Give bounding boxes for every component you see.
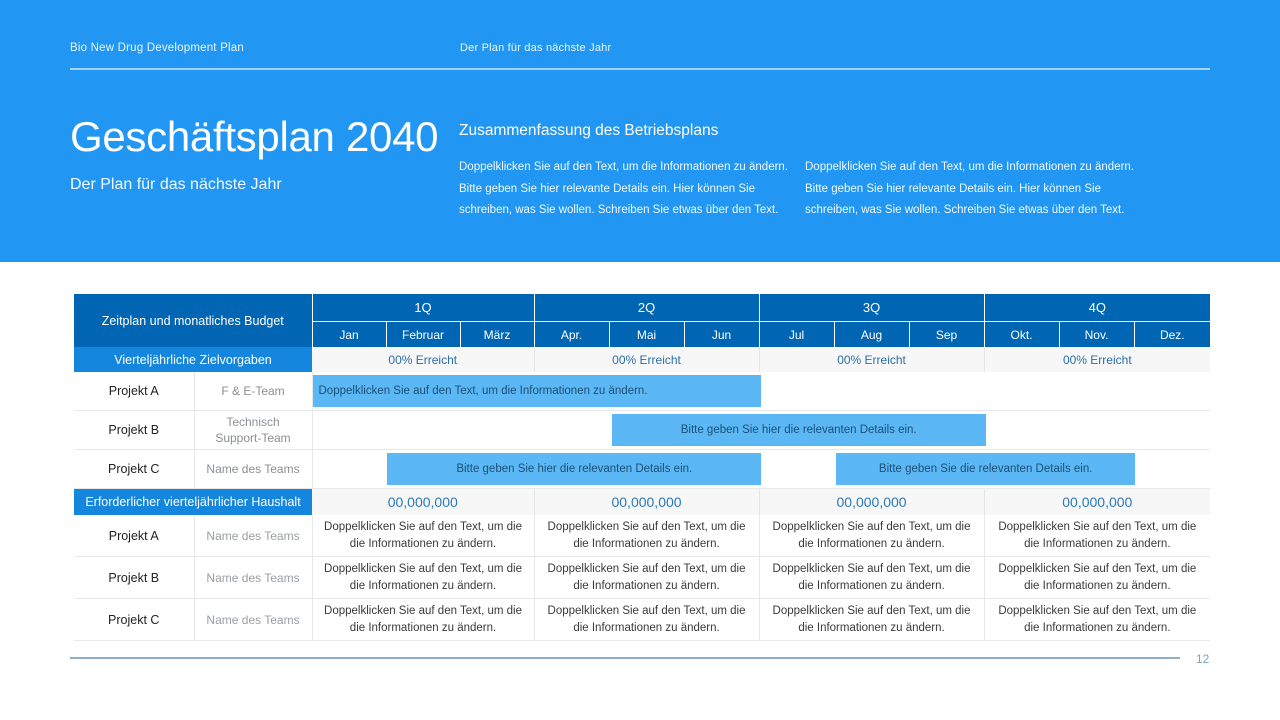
detail-team-name: Name des Teams: [194, 599, 312, 641]
gantt-bar-label: Bitte geben Sie hier die relevanten Deta…: [612, 424, 986, 436]
detail-project-name: Projekt B: [74, 557, 194, 599]
detail-team-name: Name des Teams: [194, 557, 312, 599]
detail-cell[interactable]: Doppelklicken Sie auf den Text, um die d…: [759, 599, 984, 641]
table-header-quarters: Zeitplan und monatliches Budget 1Q 2Q 3Q…: [74, 294, 1210, 322]
schedule-budget-table: Zeitplan und monatliches Budget 1Q 2Q 3Q…: [74, 294, 1210, 641]
hero-banner: Bio New Drug Development Plan Der Plan f…: [0, 0, 1280, 262]
quarter-header-1q: 1Q: [312, 294, 534, 322]
gantt-bar[interactable]: Doppelklicken Sie auf den Text, um die I…: [313, 375, 762, 407]
gantt-project-name: Projekt C: [74, 450, 194, 489]
detail-cell[interactable]: Doppelklicken Sie auf den Text, um die d…: [984, 515, 1210, 557]
gantt-track-projekt-a: Doppelklicken Sie auf den Text, um die I…: [312, 372, 1210, 411]
gantt-bar[interactable]: Bitte geben Sie hier die relevanten Deta…: [612, 414, 986, 446]
summary-column-2: Doppelklicken Sie auf den Text, um die I…: [805, 157, 1145, 222]
month-header-sep: Sep: [909, 322, 984, 348]
quarterly-goal-value-1q: 00% Erreicht: [312, 347, 534, 372]
header-divider: [70, 68, 1210, 70]
gantt-bar-label: Doppelklicken Sie auf den Text, um die I…: [313, 385, 762, 397]
quarterly-goal-value-2q: 00% Erreicht: [534, 347, 759, 372]
quarterly-goal-value-4q: 00% Erreicht: [984, 347, 1210, 372]
month-header-dez: Dez.: [1134, 322, 1210, 348]
gantt-team-name: Technisch Support-Team: [194, 411, 312, 450]
month-header-apr: Apr.: [534, 322, 609, 348]
quarterly-budget-row: Erforderlicher vierteljährlicher Haushal…: [74, 489, 1210, 516]
gantt-team-line: Support-Team: [195, 430, 312, 446]
detail-row-projekt-a: Projekt A Name des Teams Doppelklicken S…: [74, 515, 1210, 557]
quarterly-budget-label: Erforderlicher vierteljährlicher Haushal…: [74, 489, 312, 516]
gantt-track-projekt-c: Bitte geben Sie hier die relevanten Deta…: [312, 450, 1210, 489]
quarter-header-3q: 3Q: [759, 294, 984, 322]
gantt-bar-label: Bitte geben Sie die relevanten Details e…: [836, 463, 1135, 475]
table-corner-title: Zeitplan und monatliches Budget: [74, 294, 312, 347]
month-header-nov: Nov.: [1059, 322, 1134, 348]
quarterly-goals-row: Vierteljährliche Zielvorgaben 00% Erreic…: [74, 347, 1210, 372]
gantt-row-projekt-c: Projekt C Name des Teams Bitte geben Sie…: [74, 450, 1210, 489]
summary-column-1: Doppelklicken Sie auf den Text, um die I…: [459, 157, 799, 222]
detail-row-projekt-c: Projekt C Name des Teams Doppelklicken S…: [74, 599, 1210, 641]
summary-line: Doppelklicken Sie auf den Text, um die I…: [459, 157, 799, 179]
gantt-row-projekt-a: Projekt A F & E-Team Doppelklicken Sie a…: [74, 372, 1210, 411]
detail-cell[interactable]: Doppelklicken Sie auf den Text, um die d…: [759, 557, 984, 599]
header-right-label: Der Plan für das nächste Jahr: [460, 42, 611, 54]
month-header-mai: Mai: [609, 322, 684, 348]
detail-project-name: Projekt C: [74, 599, 194, 641]
detail-cell[interactable]: Doppelklicken Sie auf den Text, um die d…: [312, 557, 534, 599]
detail-cell[interactable]: Doppelklicken Sie auf den Text, um die d…: [534, 515, 759, 557]
quarterly-budget-value-4q: 00,000,000: [984, 489, 1210, 516]
gantt-project-name: Projekt A: [74, 372, 194, 411]
month-header-maerz: März: [460, 322, 534, 348]
quarterly-goals-label: Vierteljährliche Zielvorgaben: [74, 347, 312, 372]
detail-cell[interactable]: Doppelklicken Sie auf den Text, um die d…: [534, 557, 759, 599]
month-header-jul: Jul: [759, 322, 834, 348]
slide-header: Bio New Drug Development Plan Der Plan f…: [70, 42, 1210, 70]
month-header-jun: Jun: [684, 322, 759, 348]
gantt-bar[interactable]: Bitte geben Sie hier die relevanten Deta…: [387, 453, 761, 485]
gantt-team-name: F & E-Team: [194, 372, 312, 411]
detail-cell[interactable]: Doppelklicken Sie auf den Text, um die d…: [312, 515, 534, 557]
section-title: Zusammenfassung des Betriebsplans: [459, 121, 718, 141]
summary-line: Doppelklicken Sie auf den Text, um die I…: [805, 157, 1145, 179]
quarterly-budget-value-2q: 00,000,000: [534, 489, 759, 516]
slide: Bio New Drug Development Plan Der Plan f…: [0, 0, 1280, 720]
gantt-track-projekt-b: Bitte geben Sie hier die relevanten Deta…: [312, 411, 1210, 450]
month-header-jan: Jan: [312, 322, 386, 348]
detail-cell[interactable]: Doppelklicken Sie auf den Text, um die d…: [984, 599, 1210, 641]
detail-cell[interactable]: Doppelklicken Sie auf den Text, um die d…: [312, 599, 534, 641]
footer-divider: [70, 657, 1180, 659]
quarter-header-2q: 2Q: [534, 294, 759, 322]
month-header-okt: Okt.: [984, 322, 1059, 348]
gantt-team-line: Technisch: [195, 414, 312, 430]
month-header-februar: Februar: [386, 322, 460, 348]
detail-project-name: Projekt A: [74, 515, 194, 557]
summary-line: schreiben, was Sie wollen. Schreiben Sie…: [459, 200, 799, 222]
gantt-team-name: Name des Teams: [194, 450, 312, 489]
quarterly-budget-value-3q: 00,000,000: [759, 489, 984, 516]
gantt-bar-label: Bitte geben Sie hier die relevanten Deta…: [387, 463, 761, 475]
summary-line: Bitte geben Sie hier relevante Details e…: [805, 179, 1145, 201]
detail-row-projekt-b: Projekt B Name des Teams Doppelklicken S…: [74, 557, 1210, 599]
gantt-project-name: Projekt B: [74, 411, 194, 450]
month-header-aug: Aug: [834, 322, 909, 348]
gantt-row-projekt-b: Projekt B Technisch Support-Team Bitte g…: [74, 411, 1210, 450]
quarterly-budget-value-1q: 00,000,000: [312, 489, 534, 516]
detail-team-name: Name des Teams: [194, 515, 312, 557]
gantt-bar[interactable]: Bitte geben Sie die relevanten Details e…: [836, 453, 1135, 485]
page-subtitle: Der Plan für das nächste Jahr: [70, 174, 282, 196]
header-left-label: Bio New Drug Development Plan: [70, 42, 244, 54]
page-number: 12: [1196, 652, 1209, 666]
page-title: Geschäftsplan 2040: [70, 113, 438, 161]
quarter-header-4q: 4Q: [984, 294, 1210, 322]
detail-cell[interactable]: Doppelklicken Sie auf den Text, um die d…: [534, 599, 759, 641]
detail-cell[interactable]: Doppelklicken Sie auf den Text, um die d…: [984, 557, 1210, 599]
detail-cell[interactable]: Doppelklicken Sie auf den Text, um die d…: [759, 515, 984, 557]
summary-line: Bitte geben Sie hier relevante Details e…: [459, 179, 799, 201]
quarterly-goal-value-3q: 00% Erreicht: [759, 347, 984, 372]
summary-line: schreiben, was Sie wollen. Schreiben Sie…: [805, 200, 1145, 222]
